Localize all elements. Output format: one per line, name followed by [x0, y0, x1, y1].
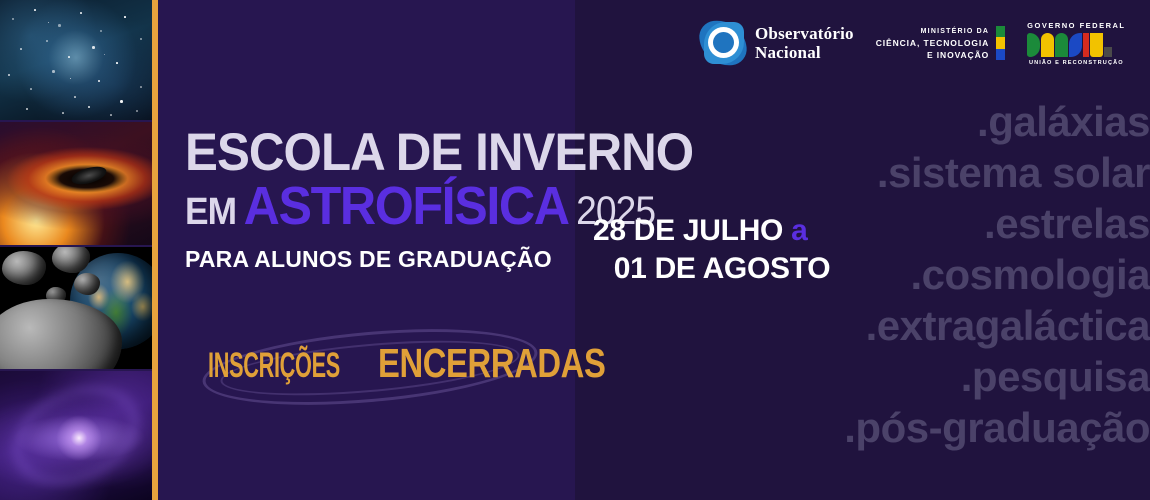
governo-federal-tagline: UNIÃO E RECONSTRUÇÃO: [1027, 60, 1125, 66]
star: [104, 54, 105, 55]
star: [120, 100, 123, 103]
star: [62, 112, 64, 114]
status-word-encerradas: ENCERRADAS: [378, 340, 605, 387]
observatorio-nacional-mark-icon: [700, 20, 746, 66]
asteroid-small: [2, 251, 46, 285]
status-text: INSCRIÇÕES ENCERRADAS: [208, 340, 662, 387]
brasil-letter-i: [1083, 33, 1089, 57]
star: [48, 22, 49, 23]
star: [12, 18, 14, 20]
brasil-letter-r: [1041, 33, 1054, 57]
governo-federal-label: GOVERNO FEDERAL: [1027, 21, 1125, 30]
mcti-line-1: MINISTÉRIO DA: [876, 26, 989, 37]
date-line-2: 01 DE AGOSTO: [593, 250, 873, 288]
event-dates-block: 28 DE JULHO a 01 DE AGOSTO: [593, 212, 873, 288]
star: [30, 88, 32, 90]
keyword-item: .pesquisa: [961, 351, 1150, 402]
keyword-item: .extragaláctica: [866, 300, 1150, 351]
registration-status-block: INSCRIÇÕES ENCERRADAS: [180, 322, 580, 414]
brasil-letter-l: [1090, 33, 1103, 57]
star: [136, 110, 138, 112]
star: [68, 56, 70, 58]
star: [52, 70, 55, 73]
star: [46, 40, 48, 42]
title-subtitle: PARA ALUNOS DE GRADUAÇÃO: [185, 246, 565, 273]
star: [80, 12, 82, 14]
on-line-2: Nacional: [755, 43, 854, 62]
keyword-item: .sistema solar: [877, 147, 1150, 198]
on-line-1: Observatório: [755, 24, 854, 43]
logo-observatorio-nacional: Observatório Nacional: [700, 20, 854, 66]
institutional-logo-bar: Observatório Nacional MINISTÉRIO DA CIÊN…: [700, 14, 1140, 72]
star: [34, 9, 36, 11]
observatorio-nacional-wordmark: Observatório Nacional: [755, 24, 854, 62]
star: [140, 38, 142, 40]
title-line-1: ESCOLA DE INVERNO: [185, 128, 538, 178]
date-connector: a: [791, 214, 807, 247]
star: [110, 114, 112, 116]
star: [74, 96, 76, 98]
star: [100, 30, 102, 32]
star: [140, 86, 142, 88]
date-line-1: 28 DE JULHO a: [593, 212, 873, 250]
star: [88, 106, 90, 108]
brasil-letter-s: [1069, 33, 1082, 57]
event-title-block: ESCOLA DE INVERNO EM ASTROFÍSICA 2025 PA…: [185, 128, 565, 273]
brasil-wordmark-icon: [1027, 33, 1125, 57]
status-word-inscricoes: INSCRIÇÕES: [208, 346, 340, 386]
mcti-line-2: CIÊNCIA, TECNOLOGIA: [876, 37, 989, 49]
photo-purple-spiral-galaxy: [0, 371, 152, 500]
brazil-flag-bar-icon: [996, 26, 1005, 60]
keyword-item: .galáxias: [977, 96, 1150, 147]
photo-black-hole-accretion-disk: [0, 122, 152, 246]
brasil-letter-a: [1055, 33, 1068, 57]
event-banner: .galáxias.sistema solar.estrelas.cosmolo…: [0, 0, 1150, 500]
photo-asteroids-near-earth: [0, 247, 152, 369]
star: [98, 80, 100, 82]
title-highlight-astrofisica: ASTROFÍSICA: [244, 178, 569, 234]
photo-strip: [0, 0, 152, 500]
mcti-line-3: E INOVAÇÃO: [876, 49, 989, 61]
logo-governo-federal: GOVERNO FEDERAL UNIÃO E RECONSTRUÇÃO: [1027, 21, 1125, 66]
space-backdrop: [0, 247, 152, 369]
photo-blue-starfield-nebula: [0, 0, 152, 120]
star: [8, 74, 10, 76]
brasil-letter-b: [1027, 33, 1040, 57]
keyword-item: .pós-graduação: [844, 402, 1150, 453]
star: [70, 78, 71, 79]
asteroid-small: [74, 273, 100, 295]
title-prefix-em: EM: [185, 184, 236, 240]
date-start: 28 DE JULHO: [593, 214, 783, 247]
keyword-item: .estrelas: [984, 198, 1150, 249]
title-line-2: EM ASTROFÍSICA 2025: [185, 178, 538, 240]
star: [124, 16, 126, 18]
star: [92, 46, 95, 49]
star: [20, 48, 22, 50]
star: [26, 108, 28, 110]
logo-mcti: MINISTÉRIO DA CIÊNCIA, TECNOLOGIA E INOV…: [876, 26, 1005, 61]
star: [58, 24, 61, 27]
star: [116, 62, 118, 64]
stars-overlay: [0, 0, 152, 120]
brasil-accent-block: [1104, 47, 1112, 57]
keyword-item: .cosmologia: [910, 249, 1150, 300]
